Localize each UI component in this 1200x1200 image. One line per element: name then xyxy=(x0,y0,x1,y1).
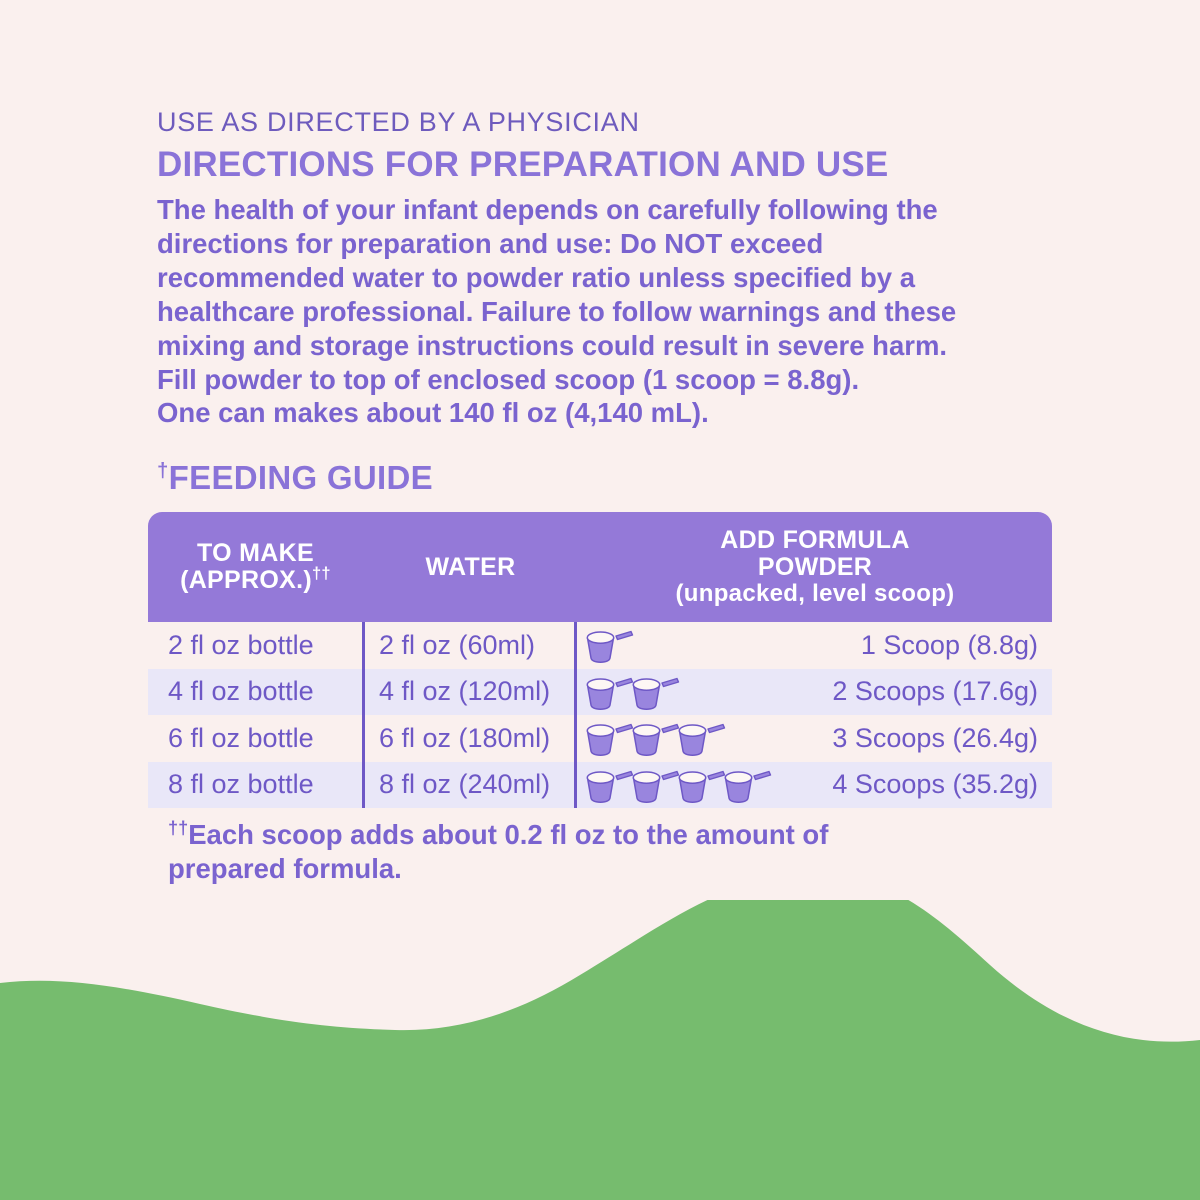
scoop-icon-group xyxy=(583,672,675,712)
scoop-icon-group xyxy=(583,625,629,665)
cell-to-make: 8 fl oz bottle xyxy=(148,769,362,800)
cell-powder-amount: 2 Scoops (17.6g) xyxy=(823,676,1052,707)
cell-scoop-icons xyxy=(577,669,823,716)
cell-to-make: 2 fl oz bottle xyxy=(148,630,362,661)
cell-powder-amount: 1 Scoop (8.8g) xyxy=(823,630,1052,661)
table-header-row: TO MAKE (APPROX.)†† WATER ADD FORMULA PO… xyxy=(148,512,1052,622)
cell-water: 6 fl oz (180ml) xyxy=(362,715,577,762)
wave-shape xyxy=(0,900,1200,1200)
directions-line: mixing and storage instructions could re… xyxy=(157,329,1042,363)
directions-line: Fill powder to top of enclosed scoop (1 … xyxy=(157,363,1042,397)
column-header-water: WATER xyxy=(363,554,578,581)
scoop-icon xyxy=(721,765,773,805)
scoop-icon-group xyxy=(583,718,721,758)
directions-line: One can makes about 140 fl oz (4,140 mL)… xyxy=(157,396,1042,430)
cell-to-make: 6 fl oz bottle xyxy=(148,723,362,754)
column-header-powder-sub: (unpacked, level scoop) xyxy=(578,581,1052,607)
green-wave-decoration xyxy=(0,900,1200,1200)
directions-section: USE AS DIRECTED BY A PHYSICIAN DIRECTION… xyxy=(157,108,1057,506)
cell-powder-amount: 3 Scoops (26.4g) xyxy=(823,723,1052,754)
footnote-line: ††Each scoop adds about 0.2 fl oz to the… xyxy=(168,818,968,852)
scoop-icon xyxy=(583,718,635,758)
directions-line: directions for preparation and use: Do N… xyxy=(157,227,1042,261)
scoop-icon xyxy=(675,718,727,758)
footnote-line: prepared formula. xyxy=(168,852,968,886)
cell-scoop-icons xyxy=(577,715,823,762)
directions-line: healthcare professional. Failure to foll… xyxy=(157,295,1042,329)
wave-svg xyxy=(0,900,1200,1200)
cell-to-make: 4 fl oz bottle xyxy=(148,676,362,707)
cell-scoop-icons xyxy=(577,622,823,669)
page-title: DIRECTIONS FOR PREPARATION AND USE xyxy=(157,146,1057,184)
directions-body: The health of your infant depends on car… xyxy=(157,193,1042,430)
feeding-guide-title-text: FEEDING GUIDE xyxy=(169,459,433,496)
cell-water: 8 fl oz (240ml) xyxy=(362,762,577,809)
column-header-to-make-line1: TO MAKE xyxy=(197,539,314,567)
feeding-guide-title: †FEEDING GUIDE xyxy=(157,460,1057,496)
column-header-powder-line1: ADD FORMULA xyxy=(720,526,909,554)
scoop-icon xyxy=(583,765,635,805)
label-panel: USE AS DIRECTED BY A PHYSICIAN DIRECTION… xyxy=(0,0,1200,1200)
cell-water: 2 fl oz (60ml) xyxy=(362,622,577,669)
cell-powder-amount: 4 Scoops (35.2g) xyxy=(823,769,1052,800)
double-dagger-marker: †† xyxy=(168,818,188,838)
scoop-icon xyxy=(629,718,681,758)
dagger-marker: † xyxy=(157,459,169,482)
table-footnote: ††Each scoop adds about 0.2 fl oz to the… xyxy=(168,818,968,885)
table-row: 4 fl oz bottle 4 fl oz (120ml) 2 Scoops … xyxy=(148,669,1052,716)
cell-scoop-icons xyxy=(577,762,823,809)
eyebrow-text: USE AS DIRECTED BY A PHYSICIAN xyxy=(157,108,1057,138)
scoop-icon xyxy=(629,672,681,712)
column-header-to-make-line2: (APPROX.) xyxy=(180,566,312,594)
feeding-guide-table: TO MAKE (APPROX.)†† WATER ADD FORMULA PO… xyxy=(148,512,1052,808)
scoop-icon xyxy=(629,765,681,805)
scoop-icon xyxy=(583,672,635,712)
double-dagger-marker: †† xyxy=(312,565,331,583)
table-row: 8 fl oz bottle 8 fl oz (240ml) 4 Scoops … xyxy=(148,762,1052,809)
cell-water: 4 fl oz (120ml) xyxy=(362,669,577,716)
table-row: 6 fl oz bottle 6 fl oz (180ml) 3 Scoops … xyxy=(148,715,1052,762)
footnote-text: Each scoop adds about 0.2 fl oz to the a… xyxy=(188,819,828,850)
directions-line: The health of your infant depends on car… xyxy=(157,193,1042,227)
scoop-icon-group xyxy=(583,765,767,805)
directions-line: recommended water to powder ratio unless… xyxy=(157,261,1042,295)
table-body: 2 fl oz bottle 2 fl oz (60ml) 1 Scoop (8… xyxy=(148,622,1052,808)
column-header-to-make: TO MAKE (APPROX.)†† xyxy=(148,540,363,594)
column-header-powder-line2: POWDER xyxy=(758,553,872,581)
scoop-icon xyxy=(583,625,635,665)
table-row: 2 fl oz bottle 2 fl oz (60ml) 1 Scoop (8… xyxy=(148,622,1052,669)
scoop-icon xyxy=(675,765,727,805)
column-header-powder: ADD FORMULA POWDER (unpacked, level scoo… xyxy=(578,527,1052,607)
